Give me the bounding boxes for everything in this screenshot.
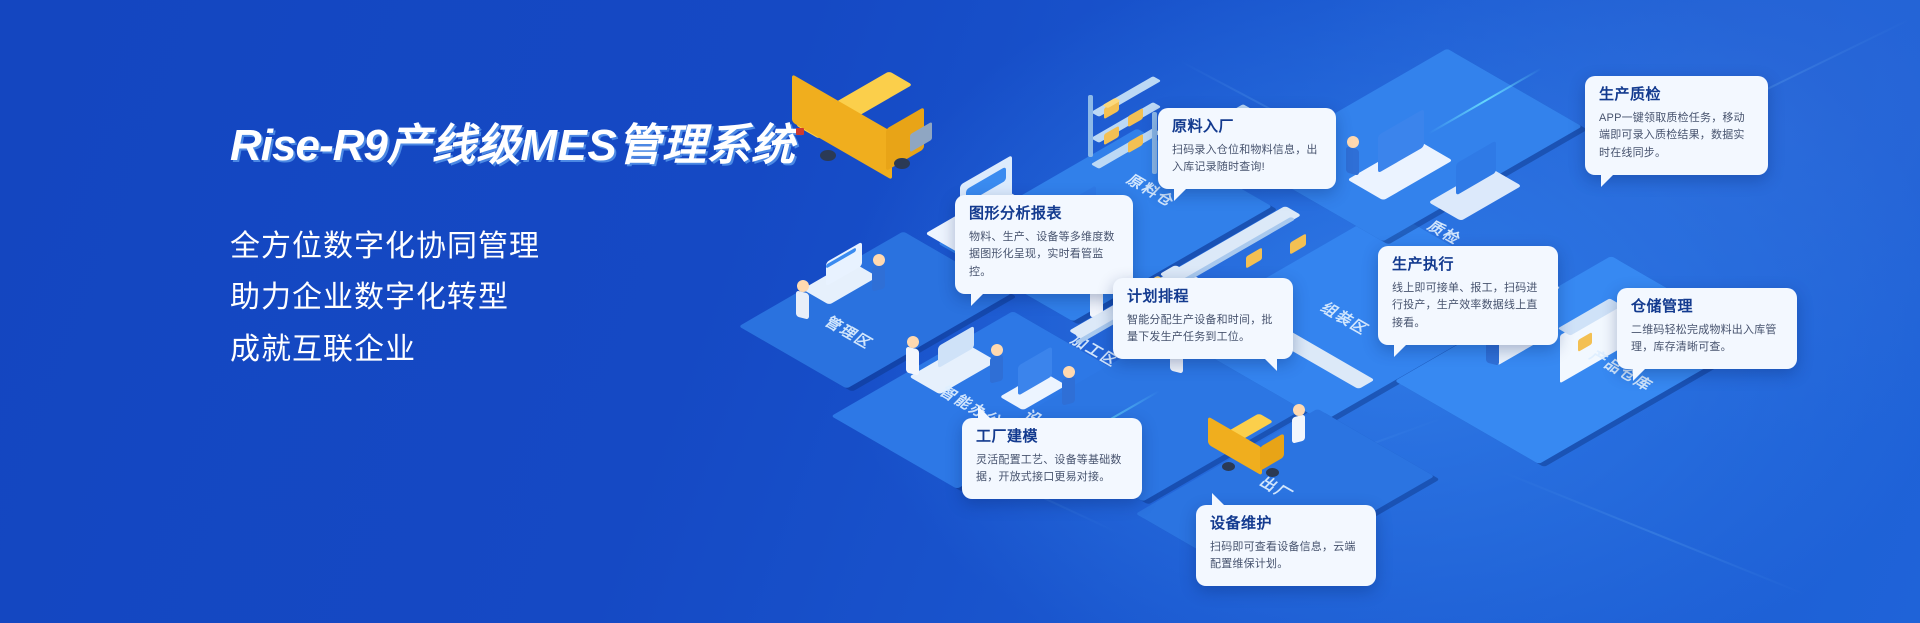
title-latin: Rise-R9 [230, 121, 387, 170]
callout-equipment-maintenance[interactable]: 设备维护 扫码即可查看设备信息，云端配置维保计划。 [1196, 505, 1376, 586]
callout-planning-scheduling[interactable]: 计划排程 智能分配生产设备和时间，批量下发生产任务到工位。 [1113, 278, 1293, 359]
callout-production-execution[interactable]: 生产执行 线上即可接单、报工，扫码进行投产，生产效率数据线上直接看。 [1378, 246, 1558, 345]
callout-body: 二维码轻松完成物料出入库管理，库存清晰可查。 [1631, 322, 1783, 358]
callout-body: 线上即可接单、报工，扫码进行投产，生产效率数据线上直接看。 [1392, 280, 1544, 333]
callout-factory-modeling[interactable]: 工厂建模 灵活配置工艺、设备等基础数据，开放式接口更易对接。 [962, 418, 1142, 499]
callout-title: 计划排程 [1127, 289, 1279, 306]
callout-title: 生产执行 [1392, 257, 1544, 274]
callout-title: 仓储管理 [1631, 299, 1783, 316]
title-cn: 产线级MES管理系统 [387, 121, 795, 170]
callout-body: 智能分配生产设备和时间，批量下发生产任务到工位。 [1127, 312, 1279, 348]
callout-title: 工厂建模 [976, 429, 1128, 446]
callout-title: 图形分析报表 [969, 206, 1119, 223]
callout-title: 原料入厂 [1172, 119, 1322, 136]
callout-tail-icon [1265, 359, 1277, 371]
callout-tail-icon [1633, 369, 1645, 381]
callout-tail-icon [1174, 189, 1186, 201]
callout-raw-material-inbound[interactable]: 原料入厂 扫码录入仓位和物料信息，出入库记录随时查询! [1158, 108, 1336, 189]
callout-tail-icon [1601, 175, 1613, 187]
callout-tail-icon [1394, 345, 1406, 357]
callout-tail-icon [978, 406, 990, 418]
callout-tail-icon [1212, 493, 1224, 505]
callout-body: 扫码即可查看设备信息，云端配置维保计划。 [1210, 539, 1362, 575]
callout-body: APP一键领取质检任务，移动端即可录入质检结果，数据实时在线同步。 [1599, 110, 1754, 163]
callout-title: 生产质检 [1599, 87, 1754, 104]
mes-hero-banner: Rise-R9产线级MES管理系统 全方位数字化协同管理 助力企业数字化转型 成… [0, 0, 1920, 623]
callout-body: 扫码录入仓位和物料信息，出入库记录随时查询! [1172, 142, 1322, 178]
callout-body: 灵活配置工艺、设备等基础数据，开放式接口更易对接。 [976, 452, 1128, 488]
callout-tail-icon [971, 294, 983, 306]
callout-title: 设备维护 [1210, 516, 1362, 533]
callout-body: 物料、生产、设备等多维度数据图形化呈现，实时看管监控。 [969, 229, 1119, 282]
callout-graph-analysis-report[interactable]: 图形分析报表 物料、生产、设备等多维度数据图形化呈现，实时看管监控。 [955, 195, 1133, 294]
callout-production-quality-check[interactable]: 生产质检 APP一键领取质检任务，移动端即可录入质检结果，数据实时在线同步。 [1585, 76, 1768, 175]
callout-warehouse-management[interactable]: 仓储管理 二维码轻松完成物料出入库管理，库存清晰可查。 [1617, 288, 1797, 369]
